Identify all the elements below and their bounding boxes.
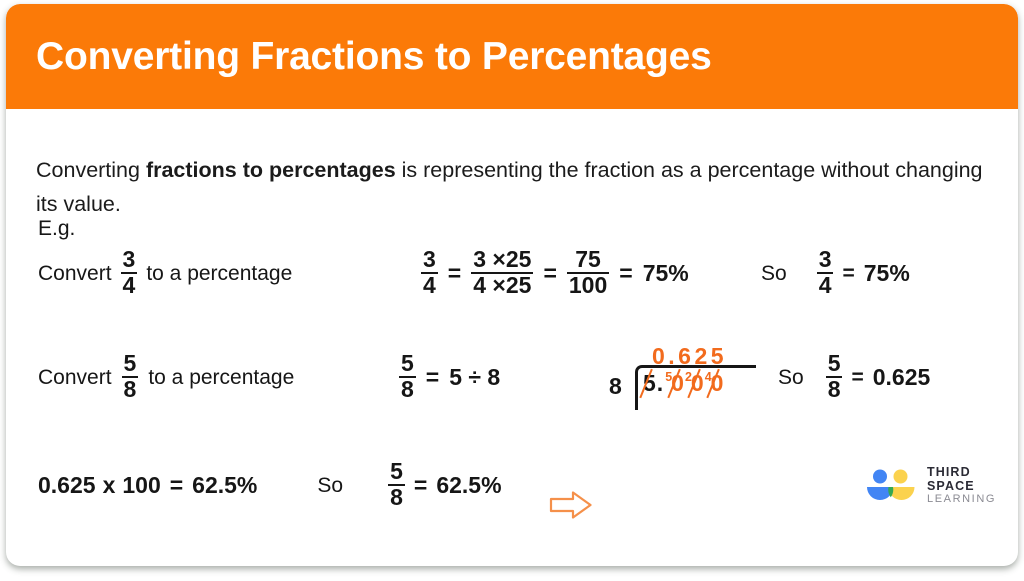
equation-fraction-1: 3 4 [421, 248, 438, 297]
fraction-numerator: 5 [399, 352, 416, 376]
fraction-denominator: 100 [567, 272, 609, 298]
equals-sign: = [170, 472, 183, 499]
example2-prompt: Convert 5 8 to a percentage [38, 353, 294, 402]
card-header: Converting Fractions to Percentages [6, 4, 1018, 109]
final-conclusion-result: 62.5% [436, 472, 501, 499]
example2-prompt-fraction: 5 8 [122, 352, 139, 401]
card-body: Converting fractions to percentages is r… [6, 109, 1018, 566]
division-dividend: 5.502040 [643, 370, 723, 397]
logo-line-1: THIRD SPACE [927, 465, 1018, 493]
logo-wordmark: THIRD SPACE LEARNING [927, 465, 1018, 505]
example1-result: 75% [643, 260, 689, 287]
example1-prompt: Convert 3 4 to a percentage [38, 249, 292, 298]
equals-sign: = [851, 366, 863, 390]
final-conclusion-fraction: 5 8 [388, 460, 405, 509]
equals-sign-2: = [543, 260, 556, 287]
dividend-zero-1: 0 [671, 370, 684, 397]
equals-sign-1: = [426, 364, 439, 391]
division-quotient: 0.625 [652, 343, 727, 370]
fraction-denominator: 4 [121, 272, 138, 298]
final-decimal: 0.625 [38, 472, 96, 499]
example2-conclusion: So 5 8 = 0.625 [778, 353, 930, 402]
conclusion-fraction: 3 4 [817, 248, 834, 297]
lesson-card: Converting Fractions to Percentages Conv… [6, 4, 1018, 566]
decimal-point: . [657, 370, 663, 396]
intro-part1: Converting [36, 158, 146, 182]
division-expression: 5 ÷ 8 [449, 364, 500, 391]
equals-sign-final: = [414, 472, 427, 499]
fraction-numerator: 3 ×25 [471, 248, 533, 272]
final-multiplier: 100 [122, 472, 160, 499]
example1-prompt-fraction: 3 4 [121, 248, 138, 297]
division-divisor: 8 [609, 373, 622, 400]
fraction-numerator: 3 [421, 248, 438, 272]
dividend-whole: 5 [643, 370, 656, 397]
multiply-sign: x [103, 472, 116, 499]
page-title: Converting Fractions to Percentages [36, 37, 712, 76]
intro-paragraph: Converting fractions to percentages is r… [36, 153, 986, 222]
example1-conclusion: So 3 4 = 75% [761, 249, 910, 298]
example1-equation: 3 4 = 3 ×25 4 ×25 = 75 100 = 75% [421, 249, 689, 298]
equals-sign-3: = [619, 260, 632, 287]
example1-prompt-after: to a percentage [146, 262, 292, 286]
third-space-learning-mark-icon [864, 468, 918, 502]
fraction-denominator: 4 ×25 [471, 272, 533, 298]
fraction-numerator: 5 [826, 352, 843, 376]
eg-text: E.g. [38, 217, 75, 241]
fraction-denominator: 8 [122, 376, 139, 402]
so-label: So [778, 366, 804, 390]
fraction-denominator: 4 [817, 272, 834, 298]
example2-equation: 5 8 = 5 ÷ 8 [399, 353, 500, 402]
fraction-numerator: 5 [388, 460, 405, 484]
dividend-zero-2: 0 [691, 370, 704, 397]
right-arrow-icon [549, 490, 593, 525]
equation-fraction-3: 75 100 [567, 248, 609, 297]
fraction-numerator: 3 [121, 248, 138, 272]
intro-bold-term: fractions to percentages [146, 158, 396, 182]
fraction-denominator: 8 [399, 376, 416, 402]
fraction-numerator: 75 [567, 248, 609, 272]
conclusion-result: 75% [864, 260, 910, 287]
equals-sign: = [842, 262, 854, 286]
fraction-numerator: 5 [122, 352, 139, 376]
example2-prompt-after: to a percentage [148, 366, 294, 390]
brand-logo: THIRD SPACE LEARNING [864, 465, 1018, 505]
logo-line-2: LEARNING [927, 493, 1018, 505]
final-result: 62.5% [192, 472, 257, 499]
example2-prompt-before: Convert [38, 366, 112, 390]
eg-label: E.g. [38, 217, 75, 241]
final-calculation: 0.625 x 100 = 62.5% So 5 8 = 62.5% [38, 461, 502, 510]
fraction-denominator: 8 [388, 484, 405, 510]
equation-fraction-2: 3 ×25 4 ×25 [471, 248, 533, 297]
equals-sign-1: = [448, 260, 461, 287]
fraction-numerator: 3 [817, 248, 834, 272]
dividend-zero-3: 0 [711, 370, 724, 397]
equation-fraction-1: 5 8 [399, 352, 416, 401]
so-label: So [761, 262, 787, 286]
fraction-denominator: 4 [421, 272, 438, 298]
conclusion-fraction: 5 8 [826, 352, 843, 401]
example1-prompt-before: Convert [38, 262, 112, 286]
conclusion-result: 0.625 [873, 364, 931, 391]
so-label: So [317, 474, 343, 498]
fraction-denominator: 8 [826, 376, 843, 402]
